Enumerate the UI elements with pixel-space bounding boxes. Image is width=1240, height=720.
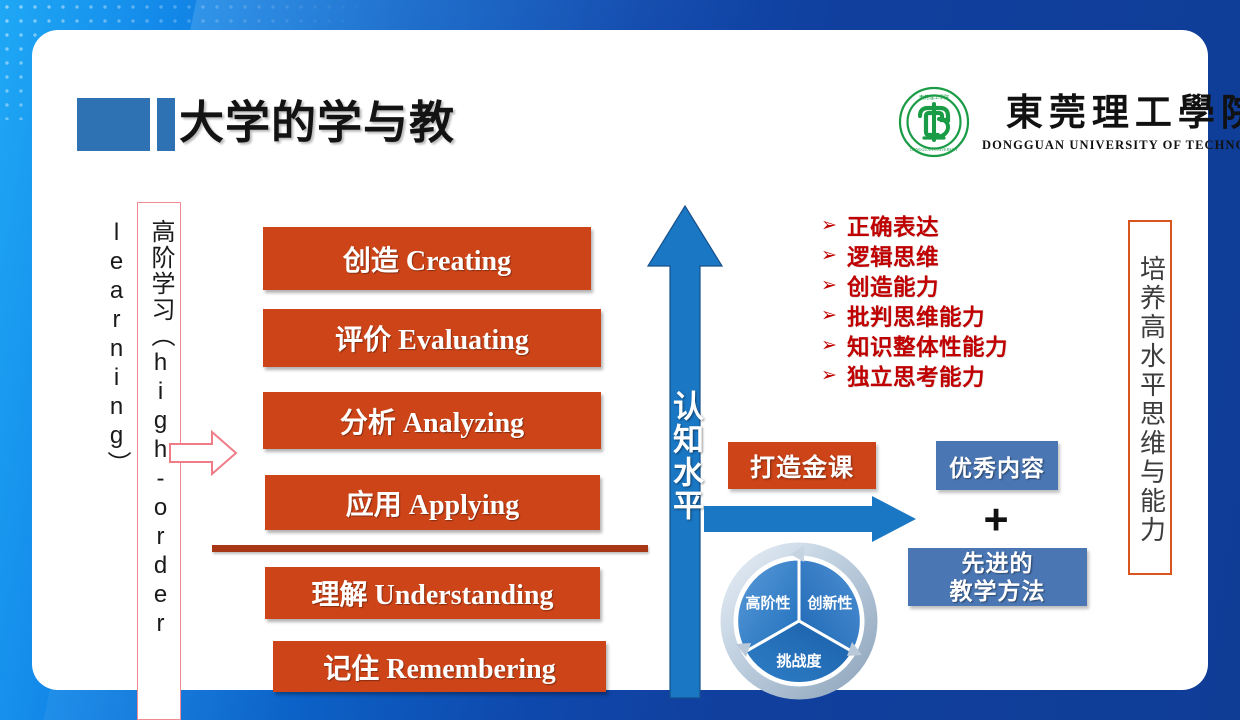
- circle-segment-label-1: 高阶性: [745, 594, 790, 612]
- list-item: ➢ 正确表达: [821, 211, 1008, 241]
- list-item: ➢ 批判思维能力: [821, 301, 1008, 331]
- method-line-1: 先进的: [962, 550, 1034, 576]
- slide-card: 大学的学与教 東莞理工學院 DONGGUAN UNIVERSITY 東莞理工學院…: [32, 30, 1208, 690]
- three-property-circle-diagram: 高阶性 创新性 挑战度: [720, 542, 878, 700]
- bullet-label: 创造能力: [847, 270, 939, 302]
- cognitive-level-label: 认知水平: [662, 390, 708, 522]
- svg-text:東莞理工學院: 東莞理工學院: [919, 94, 949, 101]
- header-accent-block-wide: [77, 98, 150, 151]
- bullet-arrow-icon: ➢: [821, 361, 847, 391]
- header-accent-block-narrow: [157, 98, 175, 151]
- bullet-label: 批判思维能力: [847, 300, 985, 332]
- taxonomy-bar-remembering[interactable]: 记住 Remembering: [273, 641, 606, 692]
- taxonomy-bar-label: 分析 Analyzing: [340, 401, 524, 441]
- goal-box: 培养高水平思维与能力: [1128, 220, 1172, 575]
- university-logo-text: 東莞理工學院 DONGGUAN UNIVERSITY OF TECHNOLOGY: [982, 92, 1240, 153]
- goal-label: 培养高水平思维与能力: [1130, 222, 1174, 577]
- taxonomy-bar-creating[interactable]: 创造 Creating: [263, 227, 591, 290]
- bullet-label: 独立思考能力: [847, 360, 985, 392]
- bullet-arrow-icon: ➢: [821, 241, 847, 271]
- taxonomy-separator-line: [212, 545, 648, 552]
- taxonomy-bar-label: 理解 Understanding: [312, 573, 554, 613]
- taxonomy-bar-understanding[interactable]: 理解 Understanding: [265, 567, 600, 619]
- ability-bullet-list: ➢ 正确表达 ➢ 逻辑思维 ➢ 创造能力 ➢ 批判思维能力 ➢ 知识整体性能力 …: [821, 211, 1008, 391]
- university-name-cn: 東莞理工學院: [1006, 92, 1240, 136]
- university-logo: 東莞理工學院 DONGGUAN UNIVERSITY 東莞理工學院 DONGGU…: [898, 86, 1240, 158]
- bullet-arrow-icon: ➢: [821, 301, 847, 331]
- taxonomy-bar-label: 创造 Creating: [343, 239, 511, 279]
- circle-segment-label-3: 挑战度: [776, 652, 822, 670]
- taxonomy-bar-label: 评价 Evaluating: [335, 318, 529, 358]
- flow-right-arrow-icon: [704, 496, 916, 542]
- circle-segment-label-2: 创新性: [806, 594, 852, 612]
- university-emblem-icon: 東莞理工學院 DONGGUAN UNIVERSITY: [898, 86, 970, 158]
- taxonomy-bar-label: 应用 Applying: [346, 483, 520, 523]
- list-item: ➢ 独立思考能力: [821, 361, 1008, 391]
- plus-sign: +: [976, 498, 1016, 542]
- bullet-label: 知识整体性能力: [847, 330, 1008, 362]
- bullet-arrow-icon: ➢: [821, 331, 847, 361]
- bullet-label: 逻辑思维: [847, 240, 939, 272]
- taxonomy-bar-analyzing[interactable]: 分析 Analyzing: [263, 392, 601, 449]
- method-box-text: 先进的 教学方法: [950, 549, 1046, 605]
- excellent-content-box[interactable]: 优秀内容: [936, 441, 1058, 490]
- list-item: ➢ 逻辑思维: [821, 241, 1008, 271]
- right-arrow-outline-icon: [168, 430, 238, 476]
- method-line-2: 教学方法: [950, 578, 1046, 604]
- bullet-label: 正确表达: [847, 210, 939, 242]
- svg-text:DONGGUAN UNIVERSITY: DONGGUAN UNIVERSITY: [910, 147, 958, 152]
- taxonomy-bar-applying[interactable]: 应用 Applying: [265, 475, 600, 530]
- bullet-arrow-icon: ➢: [821, 271, 847, 301]
- advanced-teaching-method-box[interactable]: 先进的 教学方法: [908, 548, 1087, 606]
- taxonomy-bar-evaluating[interactable]: 评价 Evaluating: [263, 309, 601, 367]
- list-item: ➢ 创造能力: [821, 271, 1008, 301]
- list-item: ➢ 知识整体性能力: [821, 331, 1008, 361]
- taxonomy-bar-label: 记住 Remembering: [323, 647, 556, 687]
- bullet-arrow-icon: ➢: [821, 211, 847, 241]
- university-name-en: DONGGUAN UNIVERSITY OF TECHNOLOGY: [982, 138, 1240, 153]
- page-title: 大学的学与教: [179, 93, 455, 153]
- gold-course-box[interactable]: 打造金课: [728, 442, 876, 489]
